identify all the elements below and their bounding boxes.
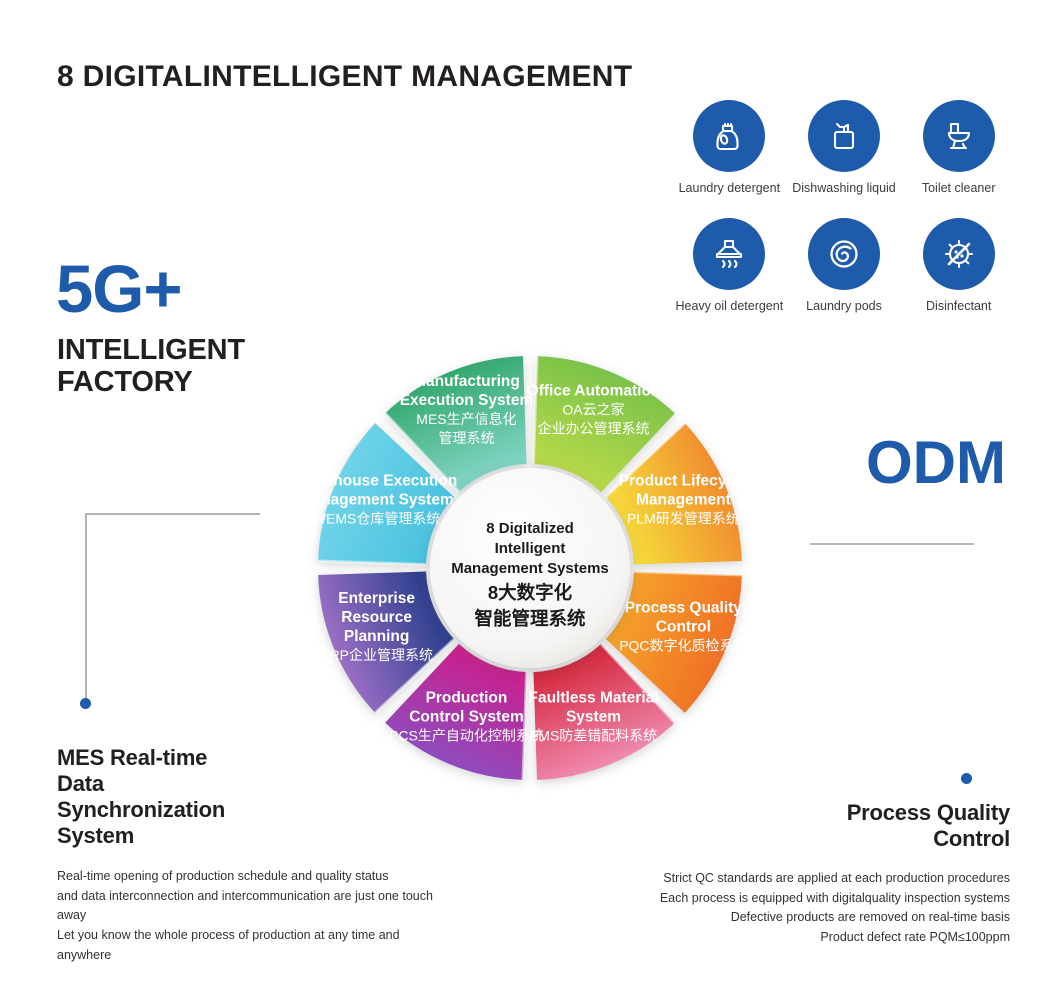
segment-label-en: Planning [344,628,409,645]
disinfectant-germ-icon [923,218,995,290]
hub-line-4: 8大数字化 [488,582,573,603]
product-label: Laundry detergent [672,181,787,196]
segment-label-en: Process Quality [625,600,743,617]
segment-label-en: Execution System [400,392,534,409]
callout-left-heading-line: Synchronization [57,797,447,823]
segment-label-en: Production [426,689,508,706]
product-label: Disinfectant [901,299,1016,314]
segment-label-cn: 企业办公管理系统 [538,421,650,437]
segment-label-en: Management System [300,491,454,508]
callout-left-heading: MES Real-time Data Synchronization Syste… [57,745,447,849]
product-label: Toilet cleaner [901,181,1016,196]
product-icon-row-1: Laundry detergent Dishwashing liquid [672,100,1016,196]
mes-connector-dot [80,698,91,709]
segment-label-en: Resource [341,609,412,626]
callout-right-heading-line: Control [610,826,1010,852]
callout-right-body-line: Defective products are removed on real-t… [610,908,1010,928]
segment-label-en: Control [656,619,711,636]
pqc-connector-dot [961,773,972,784]
callout-process-quality-control: Process Quality Control Strict QC standa… [610,800,1010,948]
pqc-connector-line [808,536,978,552]
odm-label: ODM [866,428,1006,497]
product-label: Dishwashing liquid [787,181,902,196]
callout-left-body-line: Real-time opening of production schedule… [57,867,447,887]
laundry-detergent-bottle-icon [693,100,765,172]
callout-left-heading-line: Data [57,771,447,797]
callout-right-heading-line: Process Quality [610,800,1010,826]
segment-label-cn: MES生产信息化 [416,411,516,427]
segment-label-cn: FMS防差错配料系统 [530,727,658,743]
product-item-toilet-cleaner[interactable]: Toilet cleaner [901,100,1016,196]
segment-label-en: Office Automation [527,383,661,400]
dishwashing-liquid-icon [808,100,880,172]
segment-label-en: Management [636,491,731,508]
segment-label-en: Faultless Material [528,689,658,706]
segment-label-en: Control System [409,708,524,725]
callout-right-body-line: Strict QC standards are applied at each … [610,869,1010,889]
hub-line-2: Intelligent [495,540,566,557]
segment-label-en: Enterprise [338,590,415,607]
callout-left-body-line: and data interconnection and intercommun… [57,887,447,927]
product-item-dishwashing-liquid[interactable]: Dishwashing liquid [787,100,902,196]
five-g-plus-headline: 5G+ [56,258,182,322]
hub-line-5: 智能管理系统 [474,608,586,629]
segment-label-en: System [566,708,621,725]
segment-label-cn: WEMS仓库管理系统 [313,510,441,526]
callout-right-body-line: Each process is equipped with digitalqua… [610,889,1010,909]
segment-label-cn: PQC数字化质检系统 [619,638,747,654]
page-title: 8 DIGITALINTELLIGENT MANAGEMENT [57,60,632,94]
callout-right-body: Strict QC standards are applied at each … [610,869,1010,948]
segment-label-en: Product Lifecycle [619,472,749,489]
segment-label-cn: PCS生产自动化控制系统 [389,727,544,743]
callout-left-heading-line: System [57,823,447,849]
infographic-page: 8 DIGITALINTELLIGENT MANAGEMENT 5G+ INTE… [0,0,1060,990]
product-item-disinfectant[interactable]: Disinfectant [901,218,1016,314]
segment-label-en: Warehouse Execution [296,472,457,489]
segment-label-cn: ERP企业管理系统 [320,647,433,663]
segment-label-cn: 管理系统 [438,430,494,446]
segment-label-en: Manufacturing [413,373,520,390]
segment-label-cn: PLM研发管理系统 [627,510,740,526]
mes-connector-line [78,505,268,715]
product-item-laundry-detergent[interactable]: Laundry detergent [672,100,787,196]
callout-mes-realtime: MES Real-time Data Synchronization Syste… [57,745,447,966]
callout-left-body: Real-time opening of production schedule… [57,867,447,966]
callout-left-body-line: Let you know the whole process of produc… [57,926,447,966]
callout-right-heading: Process Quality Control [610,800,1010,852]
hub-line-3: Management Systems [451,560,609,577]
toilet-cleaner-icon [923,100,995,172]
callout-left-heading-line: MES Real-time [57,745,447,771]
hub-line-1: 8 Digitalized [486,520,574,537]
wheel-hub: 8 Digitalized Intelligent Management Sys… [430,468,630,668]
callout-right-body-line: Product defect rate PQM≤100ppm [610,928,1010,948]
segment-label-cn: OA云之家 [562,402,624,418]
